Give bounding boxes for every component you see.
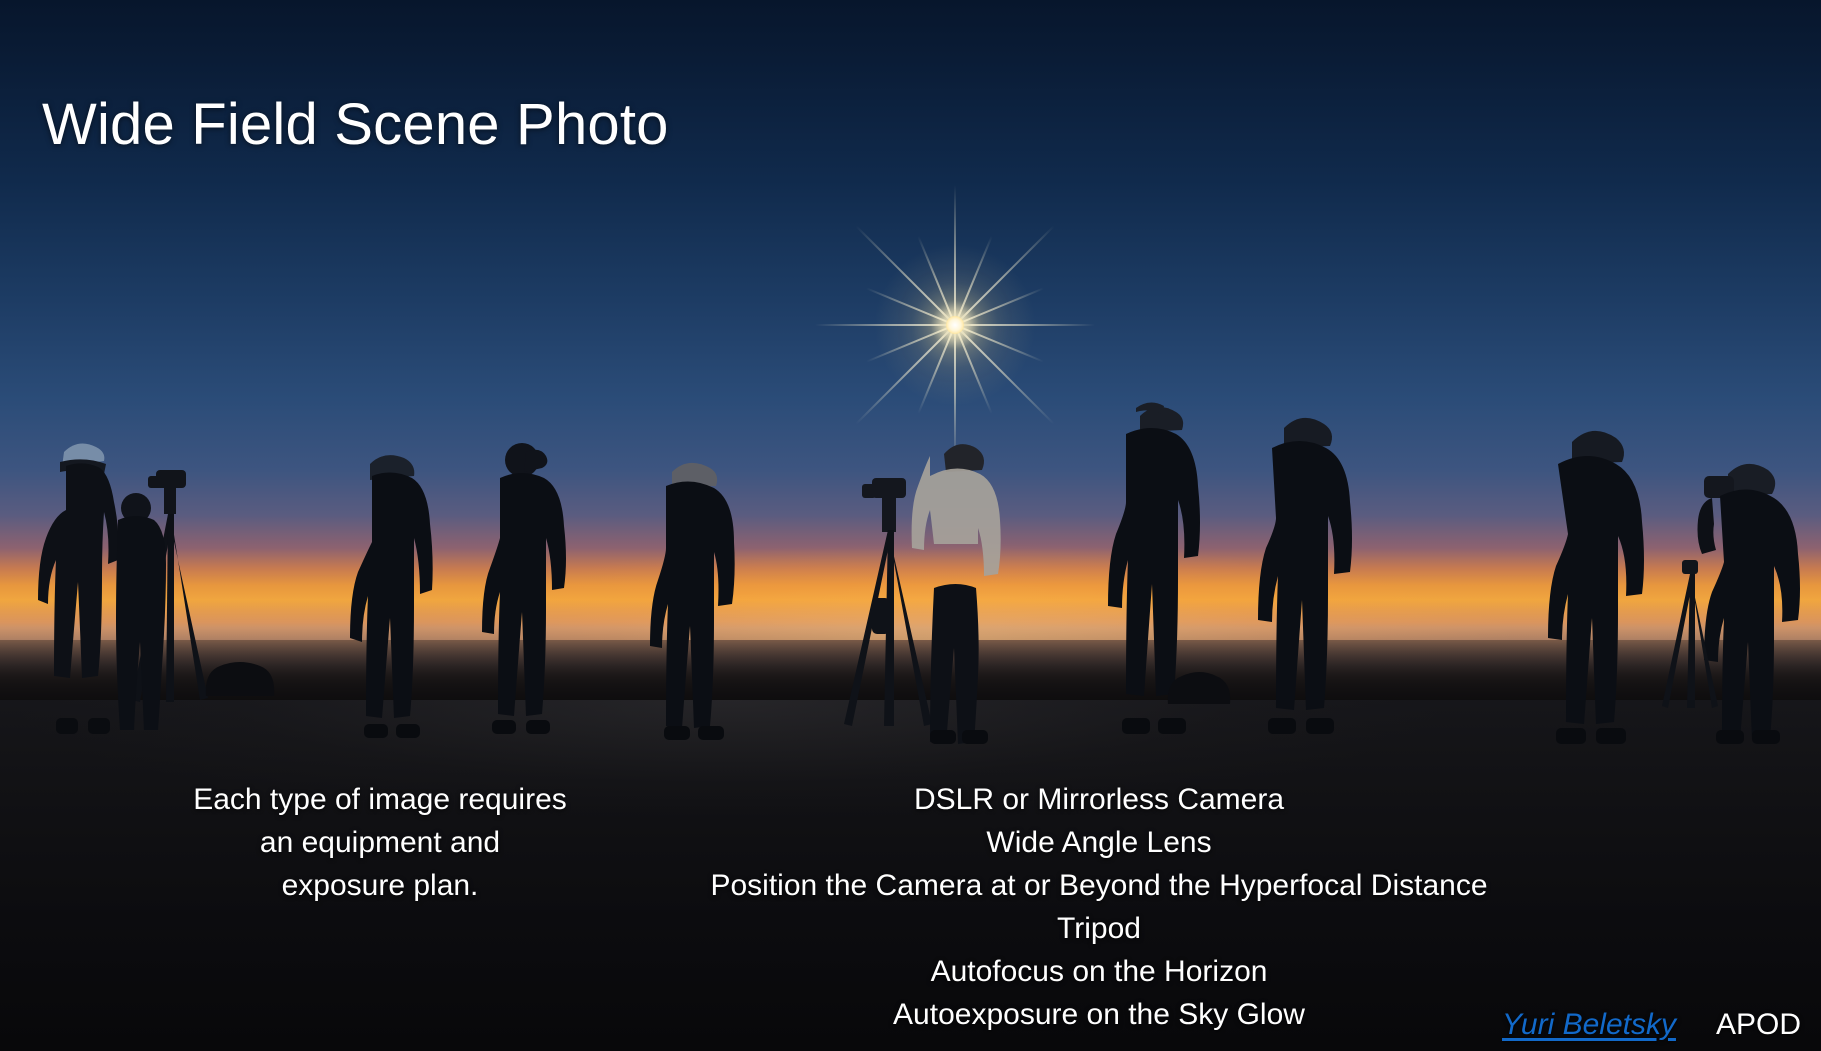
silhouette-gear-bag-2 [1160,662,1236,706]
silhouette-gear-bag [196,650,276,698]
left-note-line: an equipment and [60,821,700,864]
silhouette-person-9 [1528,420,1648,752]
silhouette-person-crouching [96,490,176,734]
silhouette-person-binoculars [470,438,574,738]
source-credit-label: APOD [1716,1008,1801,1042]
equipment-list-block: DSLR or Mirrorless Camera Wide Angle Len… [640,778,1558,1036]
silhouette-person-8 [1240,408,1358,742]
silhouette-tripod-right [1654,560,1724,720]
equipment-list-item: Autofocus on the Horizon [640,950,1558,993]
photographer-credit-link[interactable]: Yuri Beletsky [1502,1008,1676,1042]
slide-canvas: Wide Field Scene Photo Each type of imag… [0,0,1821,1051]
page-title: Wide Field Scene Photo [42,92,669,159]
equipment-list-item: DSLR or Mirrorless Camera [640,778,1558,821]
silhouette-person-grey-hair [636,452,746,746]
equipment-list-item: Autoexposure on the Sky Glow [640,993,1558,1036]
equipment-list-item: Wide Angle Lens [640,821,1558,864]
equipment-list-item: Position the Camera at or Beyond the Hyp… [640,864,1558,907]
left-note-block: Each type of image requires an equipment… [60,778,700,907]
silhouette-person-white-shirt [900,432,1010,750]
left-note-line: Each type of image requires [60,778,700,821]
silhouette-person-3 [338,448,444,744]
equipment-list-item: Tripod [640,907,1558,950]
credit-line: Yuri Beletsky APOD [1502,1008,1801,1042]
left-note-line: exposure plan. [60,864,700,907]
